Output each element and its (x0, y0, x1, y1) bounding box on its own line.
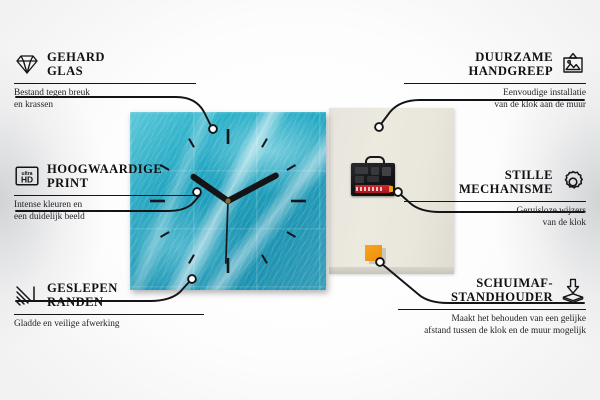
feature-title: HOOGWAARDIGE PRINT (47, 162, 162, 191)
feature-duurzame-handgreep: DUURZAME HANDGREEP Eenvoudige installati… (404, 50, 586, 111)
feature-stille-mechanisme: STILLE MECHANISME Geruisloze wijzers van… (404, 168, 586, 229)
feature-header: DUURZAME HANDGREEP (404, 50, 586, 79)
divider (404, 83, 586, 84)
feature-header: STILLE MECHANISME (404, 168, 586, 197)
feature-title: GESLEPEN RANDEN (47, 281, 118, 310)
feature-title: DUURZAME HANDGREEP (468, 50, 553, 79)
feature-header: GESLEPEN RANDEN (14, 281, 204, 310)
divider (404, 201, 586, 202)
second-hand (226, 201, 228, 263)
hour-tick (189, 255, 194, 264)
divider (398, 309, 586, 310)
mechanism-detail (382, 167, 391, 176)
bevelled-edges-icon (14, 282, 40, 308)
feature-header: ultra HD HOOGWAARDIGE PRINT (14, 162, 196, 191)
hour-tick (287, 232, 296, 237)
battery-label (356, 187, 382, 191)
mechanism-detail (355, 167, 368, 174)
hour-tick (287, 165, 296, 170)
clock-mechanism (351, 156, 395, 196)
hour-tick (161, 232, 170, 237)
feature-description: Geruisloze wijzers van de klok (404, 206, 586, 229)
hour-tick (262, 255, 267, 264)
feature-gehard-glas: GEHARD GLAS Bestand tegen breuk en krass… (14, 50, 196, 111)
feature-schuimafstandhouder: SCHUIMAF- STANDHOUDER Maakt het behouden… (398, 276, 586, 337)
infographic-canvas: GEHARD GLAS Bestand tegen breuk en krass… (0, 0, 600, 400)
feature-geslepen-randen: GESLEPEN RANDEN Gladde en veilige afwerk… (14, 281, 204, 331)
hd-label: HD (21, 175, 33, 185)
foam-spacer-pad (365, 245, 385, 263)
divider (14, 83, 196, 84)
feature-header: SCHUIMAF- STANDHOUDER (398, 276, 586, 305)
hour-tick (189, 139, 194, 148)
minute-hand (228, 176, 276, 201)
feature-description: Maakt het behouden van een gelijke afsta… (398, 314, 586, 337)
pad-top (365, 245, 382, 261)
spacer-stack-icon (560, 277, 586, 303)
divider (14, 314, 204, 315)
picture-frame-icon (560, 51, 586, 77)
mechanism-housing (351, 163, 395, 196)
diamond-icon (14, 51, 40, 77)
hour-hand (194, 177, 228, 201)
divider (14, 195, 196, 196)
feature-hoogwaardige-print: ultra HD HOOGWAARDIGE PRINT Intense kleu… (14, 162, 196, 223)
mechanism-detail (355, 176, 364, 183)
gear-icon (560, 169, 586, 195)
feature-title: GEHARD GLAS (47, 50, 105, 79)
feature-description: Gladde en veilige afwerking (14, 319, 204, 330)
mechanism-detail (367, 176, 379, 182)
feature-header: GEHARD GLAS (14, 50, 196, 79)
feature-description: Bestand tegen breuk en krassen (14, 88, 196, 111)
feature-title: SCHUIMAF- STANDHOUDER (451, 276, 553, 305)
feature-description: Intense kleuren en een duidelijk beeld (14, 200, 196, 223)
hour-tick (262, 139, 267, 148)
feature-description: Eenvoudige installatie van de klok aan d… (404, 88, 586, 111)
ultra-hd-icon: ultra HD (14, 163, 40, 189)
feature-title: STILLE MECHANISME (459, 168, 553, 197)
mechanism-detail (371, 167, 379, 175)
